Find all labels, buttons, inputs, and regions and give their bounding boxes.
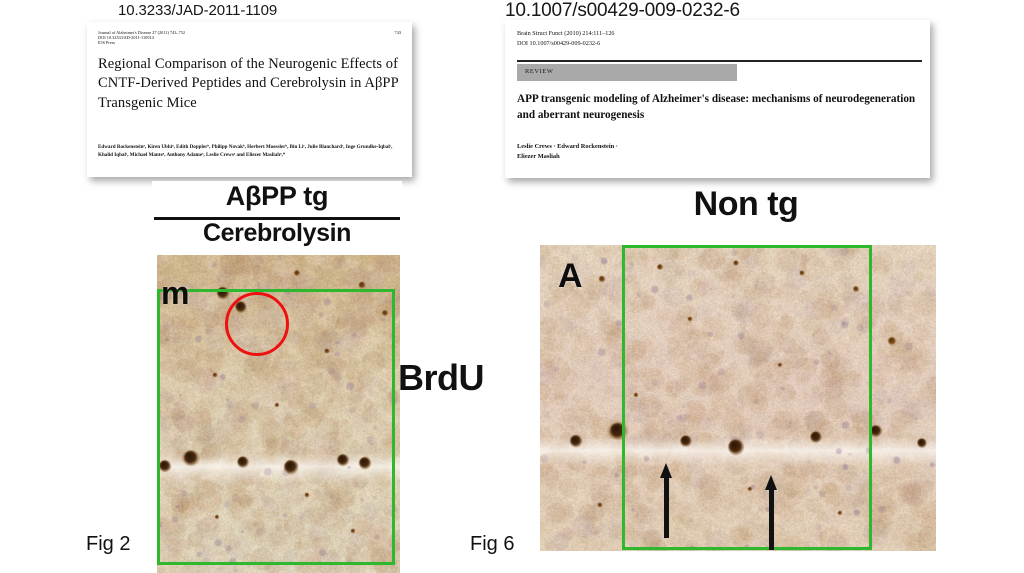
right-figure-group-label: Non tg (616, 185, 876, 224)
left-paper-journal-header: Journal of Alzheimer's Disease 27 (2011)… (98, 30, 185, 46)
right-paper-journal-header: Brain Struct Funct (2010) 214:111–126 DO… (517, 29, 920, 49)
left-doi-caption: 10.3233/JAD-2011-1109 (118, 2, 277, 19)
left-figure-title-box: AβPP tg Cerebrolysin (152, 181, 402, 253)
right-doi-caption: 10.1007/s00429-009-0232-6 (505, 0, 740, 22)
right-figure-caption: Fig 6 (470, 533, 514, 556)
right-paper-review-band: REVIEW (517, 64, 737, 81)
red-circle-annotation (225, 292, 289, 356)
left-paper-title: Regional Comparison of the Neurogenic Ef… (98, 55, 402, 113)
left-paper-authors: Edward Rockensteinᵃ, Kiren Ubhiᵃ, Edith … (98, 144, 402, 160)
left-paper-thumbnail: Journal of Alzheimer's Disease 27 (2011)… (87, 22, 412, 177)
left-figure-block: AβPP tg Cerebrolysin m (152, 181, 402, 573)
right-roi-green-box (622, 245, 872, 550)
right-panel-letter: A (558, 257, 583, 296)
right-paper-section-label: REVIEW (525, 68, 553, 75)
left-figure-treatment-label: Cerebrolysin (152, 219, 402, 248)
stain-label-brdu: BrdU (398, 357, 484, 399)
right-paper-title: APP transgenic modeling of Alzheimer's d… (517, 92, 922, 124)
left-panel-letter: m (161, 275, 189, 312)
slide-canvas: 10.3233/JAD-2011-1109 10.1007/s00429-009… (0, 0, 1024, 573)
right-paper-authors: Leslie Crews · Edward Rockenstein · Elie… (517, 142, 922, 163)
right-figure-block: Non tg A (536, 185, 936, 573)
right-paper-rule (517, 60, 922, 62)
left-figure-group-label: AβPP tg (152, 181, 402, 212)
left-figure-caption: Fig 2 (86, 533, 130, 556)
right-paper-thumbnail: Brain Struct Funct (2010) 214:111–126 DO… (505, 20, 930, 178)
left-paper-page-number: 743 (395, 30, 401, 35)
